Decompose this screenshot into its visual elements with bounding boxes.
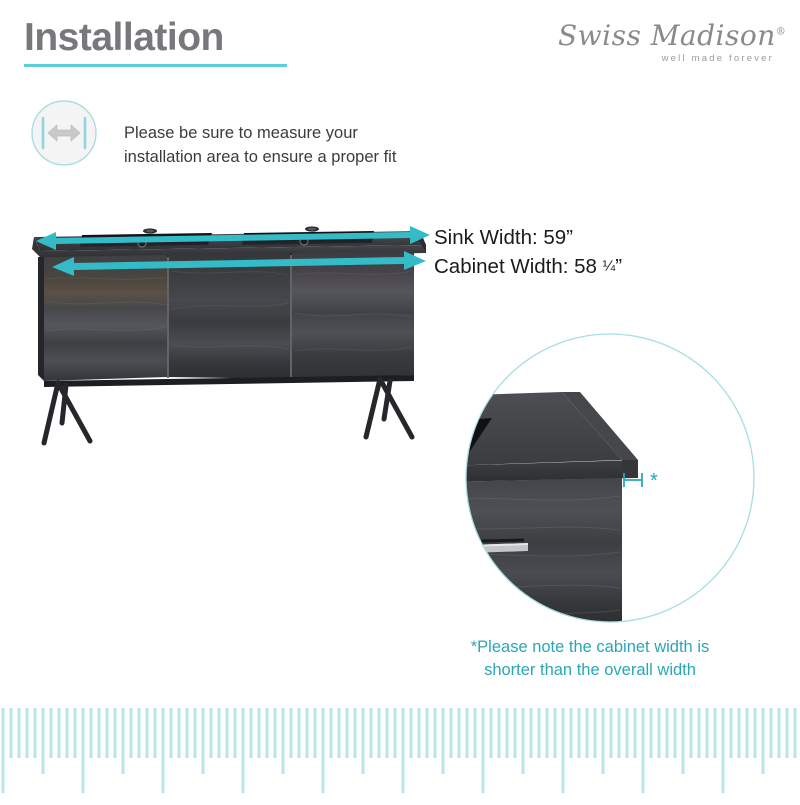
ruler-strip — [0, 700, 800, 800]
footnote-line-2: shorter than the overall width — [430, 659, 750, 682]
cabinet-width-label: Cabinet Width: 58 ¼” — [434, 252, 622, 281]
vanity-legs — [44, 379, 412, 443]
brand-name: Swiss Madison® — [558, 22, 778, 50]
measure-width-icon — [30, 99, 98, 167]
footnote: *Please note the cabinet width is shorte… — [430, 636, 750, 683]
registered-mark-icon: ® — [776, 27, 787, 38]
sink-width-label: Sink Width: 59” — [434, 223, 622, 252]
width-callout-labels: Sink Width: 59” Cabinet Width: 58 ¼” — [434, 223, 622, 281]
page-title: Installation — [24, 18, 224, 57]
overhang-asterisk-marker: * — [650, 470, 658, 492]
brand-name-text: Swiss Madison — [558, 19, 776, 52]
cabinet-width-fraction: ¼ — [603, 257, 616, 274]
cabinet-width-suffix: ” — [615, 255, 622, 278]
measure-note-line-1: Please be sure to measure your — [124, 122, 396, 146]
vanity-illustration — [22, 205, 432, 460]
cabinet-width-prefix: Cabinet Width: 58 — [434, 255, 603, 278]
brand-logo: Swiss Madison® well made forever — [558, 22, 778, 76]
footnote-line-1: *Please note the cabinet width is — [430, 636, 750, 659]
vanity-cabinet-body — [38, 251, 414, 387]
measure-note: Please be sure to measure your installat… — [124, 122, 396, 170]
title-underline — [24, 64, 287, 67]
brand-tagline: well made forever — [558, 53, 774, 64]
measure-note-line-2: installation area to ensure a proper fit — [124, 146, 396, 170]
detail-zoom-circle: * — [462, 330, 758, 626]
